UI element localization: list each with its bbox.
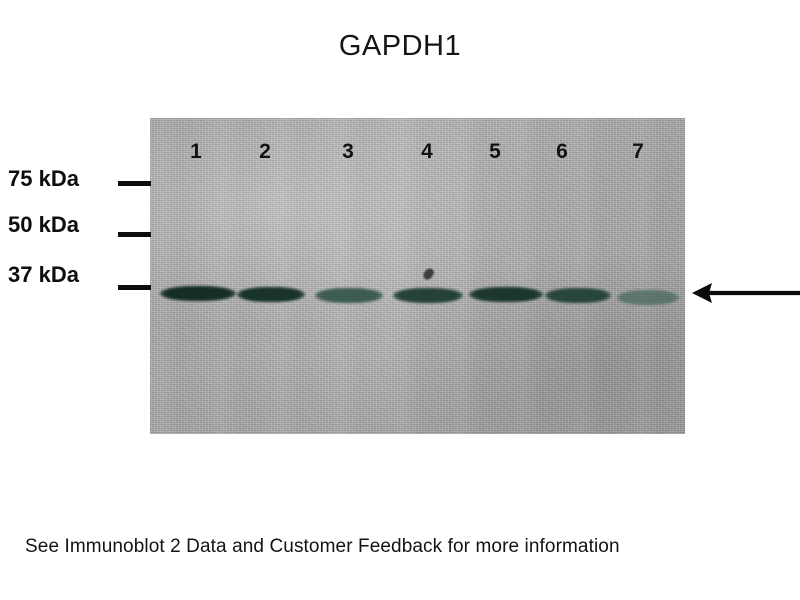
lane-number-1: 1 [182, 140, 210, 164]
membrane-lane-streaks [150, 118, 685, 434]
protein-band-lane-4 [393, 288, 463, 303]
lane-number-6: 6 [548, 140, 576, 164]
page-title: GAPDH1 [0, 30, 800, 63]
protein-band-lane-7 [617, 290, 679, 305]
marker-dash-75kda [118, 181, 151, 186]
band-core [237, 287, 305, 302]
marker-dash-37kda [118, 285, 151, 290]
band-core [315, 288, 383, 303]
lane-number-4: 4 [413, 140, 441, 164]
blot-membrane-panel [150, 118, 685, 434]
lane-number-3: 3 [334, 140, 362, 164]
lane-number-5: 5 [481, 140, 509, 164]
band-core [545, 288, 611, 303]
marker-label-50kda: 50 kDa [8, 212, 79, 238]
protein-band-lane-1 [160, 286, 236, 301]
protein-band-lane-2 [237, 287, 305, 302]
protein-band-lane-5 [469, 287, 543, 302]
lane-number-7: 7 [624, 140, 652, 164]
protein-band-lane-6 [545, 288, 611, 303]
band-core [469, 287, 543, 302]
marker-label-75kda: 75 kDa [8, 166, 79, 192]
lane-number-2: 2 [251, 140, 279, 164]
band-core [160, 286, 236, 301]
protein-band-lane-3 [315, 288, 383, 303]
band-pointer-arrow-icon [690, 280, 800, 306]
band-core [617, 290, 679, 305]
figure-caption: See Immunoblot 2 Data and Customer Feedb… [25, 536, 620, 558]
western-blot-figure: GAPDH1 1234567 75 kDa50 kDa37 kDa See Im… [0, 0, 800, 600]
marker-dash-50kda [118, 232, 151, 237]
band-core [393, 288, 463, 303]
marker-label-37kda: 37 kDa [8, 262, 79, 288]
